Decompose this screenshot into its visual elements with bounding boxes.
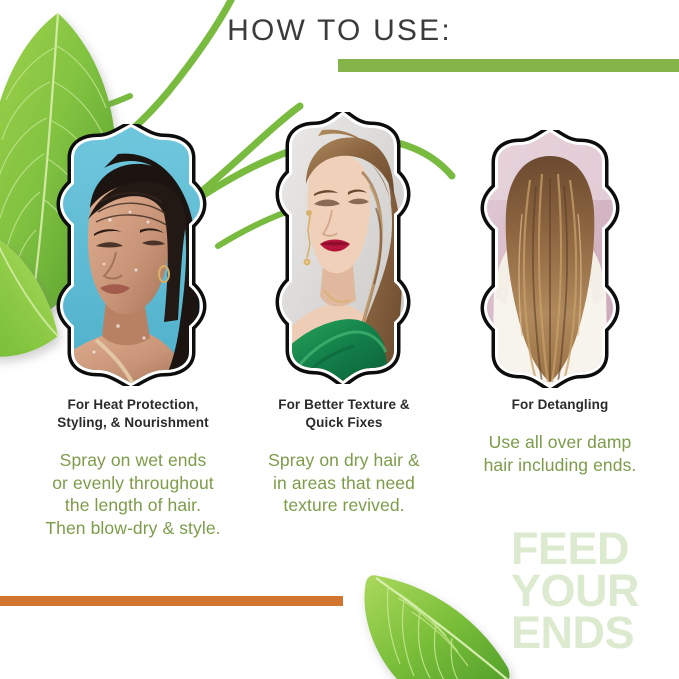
brand-watermark: FEED YOUR ENDS bbox=[511, 528, 679, 654]
photo-card-2[interactable] bbox=[266, 112, 419, 384]
photo-image-3 bbox=[482, 130, 618, 388]
step-2-body: Spray on dry hair & in areas that need t… bbox=[230, 449, 458, 517]
step-1-body: Spray on wet ends or evenly throughout t… bbox=[8, 449, 258, 540]
footer-accent-bar bbox=[0, 596, 343, 606]
step-1-caption: For Heat Protection, Styling, & Nourishm… bbox=[8, 396, 258, 432]
photo-card-1[interactable] bbox=[44, 124, 219, 386]
photo-image-1 bbox=[58, 124, 208, 386]
step-column-2: For Better Texture & Quick Fixes Spray o… bbox=[230, 396, 458, 517]
ornate-frame-1 bbox=[44, 124, 219, 386]
step-column-3: For Detangling Use all over damp hair in… bbox=[446, 396, 674, 476]
ornate-frame-3 bbox=[468, 130, 632, 388]
infographic-canvas: HOW TO USE: bbox=[0, 0, 679, 679]
ornate-frame-2 bbox=[266, 112, 419, 384]
step-3-caption: For Detangling bbox=[446, 396, 674, 414]
step-3-body: Use all over damp hair including ends. bbox=[446, 431, 674, 477]
step-2-caption: For Better Texture & Quick Fixes bbox=[230, 396, 458, 432]
step-column-1: For Heat Protection, Styling, & Nourishm… bbox=[8, 396, 258, 540]
photo-image-2 bbox=[278, 112, 408, 384]
photo-card-3[interactable] bbox=[468, 130, 632, 388]
